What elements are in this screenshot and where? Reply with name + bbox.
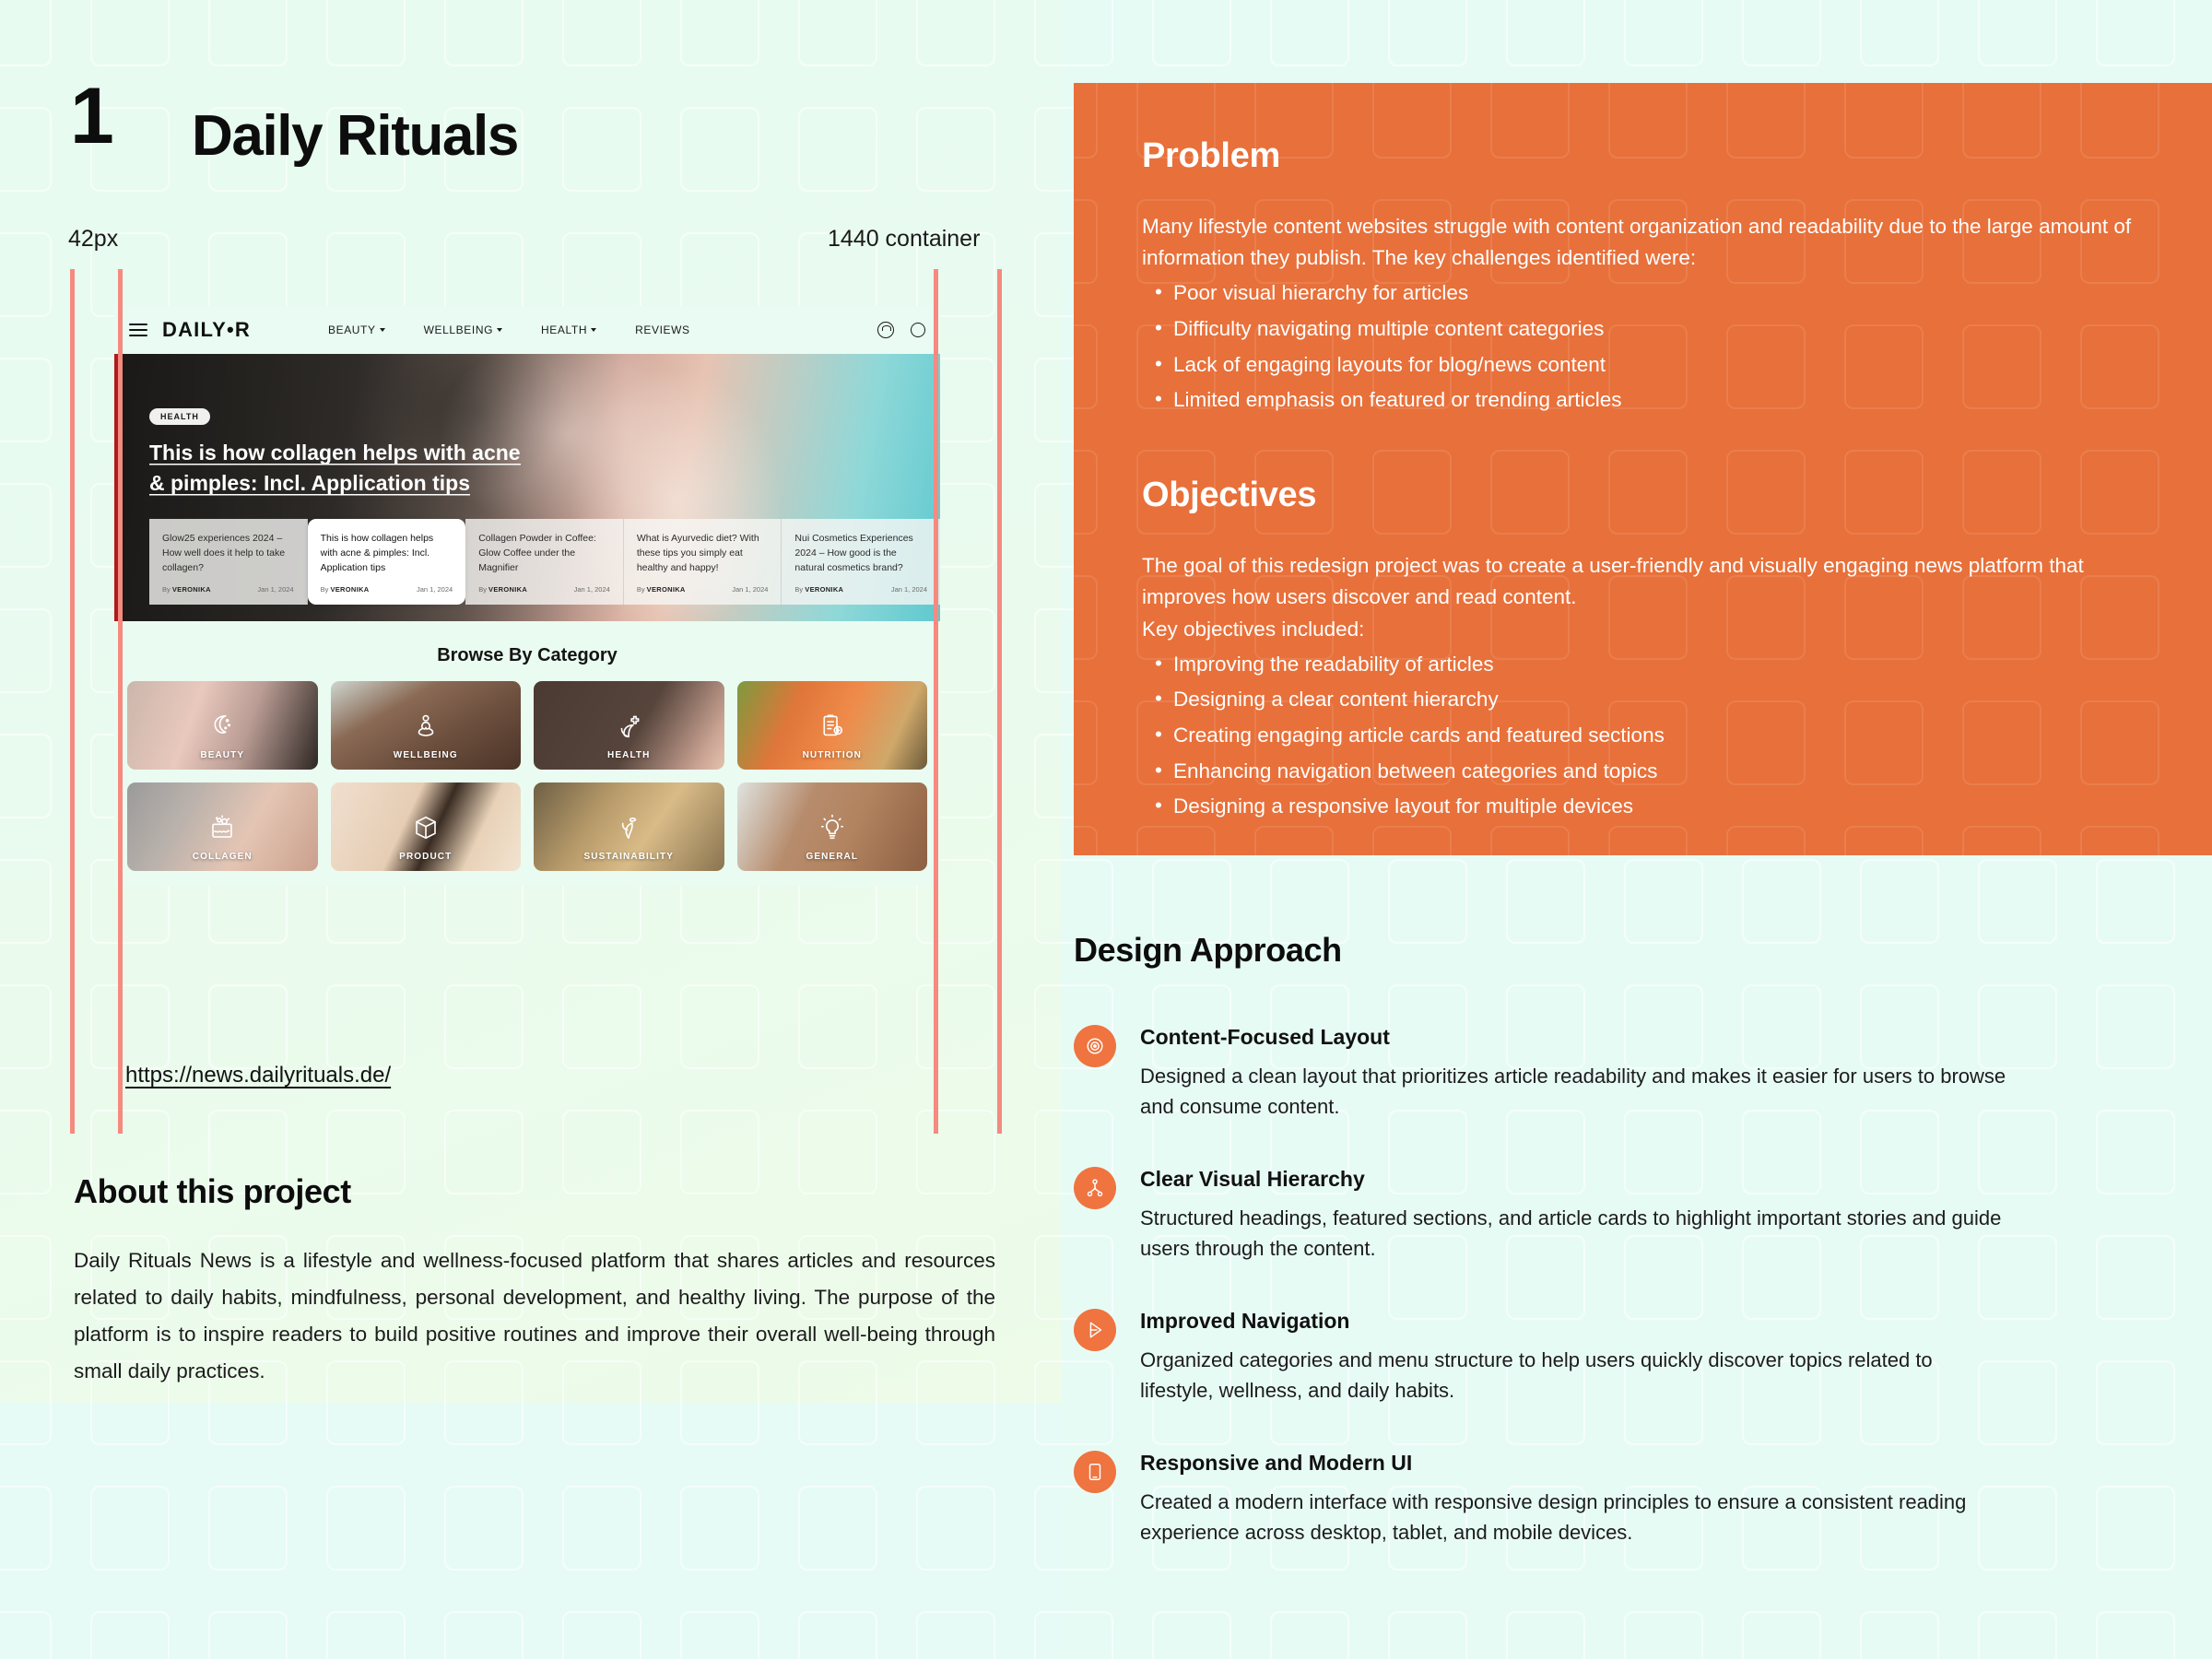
website-mockup: DAILY•R BEAUTY WELLBEING HEALTH REVIEWS …: [114, 306, 940, 886]
category-label: PRODUCT: [399, 852, 452, 862]
article-card-meta: By VERONIKA Jan 1, 2024: [478, 585, 610, 594]
problem-intro: Many lifestyle content websites struggle…: [1142, 211, 2138, 274]
tablet-device-icon: [1074, 1451, 1116, 1493]
node-hierarchy-icon: [1074, 1167, 1116, 1209]
category-card-health[interactable]: HEALTH: [534, 681, 724, 770]
problem-heading: Problem: [1142, 136, 2138, 176]
objective-bullet: Designing a clear content hierarchy: [1142, 682, 2138, 718]
slide-number: 1: [70, 81, 112, 152]
category-grid: BEAUTY WELLBEING HEALTH NUTRITION COLLAG…: [114, 672, 940, 886]
spec-label-gutter: 42px: [68, 226, 118, 253]
sprout-leaf-icon: [615, 814, 642, 846]
guide-line-inner-left: [118, 269, 123, 1134]
category-card-sustainability[interactable]: SUSTAINABILITY: [534, 782, 724, 871]
problem-objectives-panel: Problem Many lifestyle content websites …: [1074, 83, 2212, 855]
guide-line-outer-left: [70, 269, 75, 1134]
article-card-title: Glow25 experiences 2024 – How well does …: [162, 532, 294, 576]
chevron-down-icon: [497, 328, 502, 332]
problem-bullet-list: Poor visual hierarchy for articlesDiffic…: [1142, 276, 2138, 418]
article-card-author: By VERONIKA: [637, 585, 686, 594]
article-card[interactable]: What is Ayurvedic diet? With these tips …: [624, 519, 782, 605]
mockup-nav-links: BEAUTY WELLBEING HEALTH REVIEWS: [328, 324, 690, 336]
skin-layers-icon: [208, 814, 236, 846]
meditation-icon: [412, 712, 440, 745]
objective-bullet: Enhancing navigation between categories …: [1142, 754, 2138, 790]
user-account-icon[interactable]: [877, 322, 894, 338]
article-card-meta: By VERONIKA Jan 1, 2024: [637, 585, 769, 594]
nav-label: BEAUTY: [328, 324, 376, 336]
left-column: 1 Daily Rituals 42px 1440 container DAIL…: [0, 0, 1069, 1659]
article-card-date: Jan 1, 2024: [732, 585, 768, 594]
article-card-meta: By VERONIKA Jan 1, 2024: [162, 585, 294, 594]
design-approach-item-title: Responsive and Modern UI: [1140, 1451, 2006, 1476]
chevron-down-icon: [591, 328, 596, 332]
design-approach-item: Content-Focused Layout Designed a clean …: [1074, 1023, 2180, 1123]
category-label: BEAUTY: [200, 750, 244, 760]
send-cursor-icon: [1074, 1309, 1116, 1351]
nav-label: HEALTH: [541, 324, 587, 336]
design-approach-item-description: Structured headings, featured sections, …: [1140, 1203, 2006, 1265]
article-card-author: By VERONIKA: [478, 585, 527, 594]
design-approach-item: Clear Visual Hierarchy Structured headin…: [1074, 1165, 2180, 1265]
design-approach-item-title: Content-Focused Layout: [1140, 1025, 2006, 1050]
spec-label-container: 1440 container: [828, 226, 980, 253]
article-card-title: Collagen Powder in Coffee: Glow Coffee u…: [478, 532, 610, 576]
category-label: HEALTH: [607, 750, 650, 760]
category-label: NUTRITION: [803, 750, 862, 760]
objective-bullet: Creating engaging article cards and feat…: [1142, 718, 2138, 754]
problem-bullet: Difficulty navigating multiple content c…: [1142, 312, 2138, 347]
category-card-general[interactable]: GENERAL: [737, 782, 928, 871]
objectives-sub-intro: Key objectives included:: [1142, 614, 2138, 645]
article-card[interactable]: This is how collagen helps with acne & p…: [308, 519, 466, 605]
objectives-heading: Objectives: [1142, 476, 2138, 515]
article-card[interactable]: Nui Cosmetics Experiences 2024 – How goo…: [782, 519, 940, 605]
guide-line-outer-right: [997, 269, 1002, 1134]
category-card-collagen[interactable]: COLLAGEN: [127, 782, 318, 871]
article-card-title: What is Ayurvedic diet? With these tips …: [637, 532, 769, 576]
nav-item-wellbeing[interactable]: WELLBEING: [424, 324, 502, 336]
face-beauty-icon: [208, 712, 236, 745]
design-approach-heading: Design Approach: [1074, 931, 1342, 970]
category-card-product[interactable]: PRODUCT: [331, 782, 522, 871]
search-icon[interactable]: [911, 323, 925, 337]
problem-bullet: Poor visual hierarchy for articles: [1142, 276, 2138, 312]
nav-item-beauty[interactable]: BEAUTY: [328, 324, 385, 336]
article-card-author: By VERONIKA: [162, 585, 211, 594]
design-approach-item-description: Designed a clean layout that prioritizes…: [1140, 1061, 2006, 1123]
category-label: COLLAGEN: [193, 852, 253, 862]
article-card[interactable]: Collagen Powder in Coffee: Glow Coffee u…: [465, 519, 624, 605]
project-url-link[interactable]: https://news.dailyrituals.de/: [125, 1063, 391, 1088]
category-card-nutrition[interactable]: NUTRITION: [737, 681, 928, 770]
guide-line-inner-right: [934, 269, 938, 1134]
chevron-down-icon: [380, 328, 385, 332]
nav-item-reviews[interactable]: REVIEWS: [635, 324, 690, 336]
problem-bullet: Lack of engaging layouts for blog/news c…: [1142, 347, 2138, 383]
category-card-beauty[interactable]: BEAUTY: [127, 681, 318, 770]
lightbulb-icon: [818, 814, 846, 846]
design-approach-item-title: Clear Visual Hierarchy: [1140, 1167, 2006, 1192]
page-title: Daily Rituals: [192, 103, 518, 169]
category-label: WELLBEING: [394, 750, 458, 760]
mockup-navbar: DAILY•R BEAUTY WELLBEING HEALTH REVIEWS: [114, 306, 940, 354]
problem-bullet: Limited emphasis on featured or trending…: [1142, 382, 2138, 418]
site-logo[interactable]: DAILY•R: [162, 318, 251, 342]
article-card-date: Jan 1, 2024: [891, 585, 927, 594]
about-body-text: Daily Rituals News is a lifestyle and we…: [74, 1242, 995, 1390]
article-card-date: Jan 1, 2024: [257, 585, 293, 594]
hamburger-icon[interactable]: [129, 324, 147, 336]
box-package-icon: [412, 814, 440, 846]
article-card-title: This is how collagen helps with acne & p…: [321, 532, 453, 576]
design-approach-list: Content-Focused Layout Designed a clean …: [1074, 1023, 2180, 1591]
hero-category-badge[interactable]: HEALTH: [149, 408, 210, 425]
objectives-intro: The goal of this redesign project was to…: [1142, 550, 2138, 613]
category-label: SUSTAINABILITY: [584, 852, 674, 862]
article-card-title: Nui Cosmetics Experiences 2024 – How goo…: [794, 532, 927, 576]
design-approach-item: Improved Navigation Organized categories…: [1074, 1307, 2180, 1406]
browse-section-header: Browse By Category: [114, 621, 940, 672]
design-approach-item-description: Created a modern interface with responsi…: [1140, 1487, 2006, 1548]
article-card-meta: By VERONIKA Jan 1, 2024: [794, 585, 927, 594]
category-card-wellbeing[interactable]: WELLBEING: [331, 681, 522, 770]
objective-bullet: Improving the readability of articles: [1142, 647, 2138, 683]
category-label: GENERAL: [806, 852, 858, 862]
article-cards-strip: Glow25 experiences 2024 – How well does …: [149, 519, 940, 605]
clipboard-nutrition-icon: [818, 712, 846, 745]
article-card-date: Jan 1, 2024: [417, 585, 453, 594]
article-card-author: By VERONIKA: [321, 585, 370, 594]
article-card-author: By VERONIKA: [794, 585, 843, 594]
design-approach-item: Responsive and Modern UI Created a moder…: [1074, 1449, 2180, 1548]
design-approach-item-title: Improved Navigation: [1140, 1309, 2006, 1334]
article-card[interactable]: Glow25 experiences 2024 – How well does …: [149, 519, 308, 605]
nav-label: REVIEWS: [635, 324, 690, 336]
nav-label: WELLBEING: [424, 324, 493, 336]
design-approach-item-description: Organized categories and menu structure …: [1140, 1345, 2006, 1406]
target-bullseye-icon: [1074, 1025, 1116, 1067]
hero-banner[interactable]: HEALTH This is how collagen helps with a…: [114, 354, 940, 621]
leaf-cross-icon: [615, 712, 642, 745]
objective-bullet: Designing a responsive layout for multip…: [1142, 789, 2138, 825]
browse-title: Browse By Category: [114, 645, 940, 666]
hero-content: HEALTH This is how collagen helps with a…: [149, 407, 536, 498]
hero-headline[interactable]: This is how collagen helps with acne & p…: [149, 438, 536, 498]
article-card-date: Jan 1, 2024: [574, 585, 610, 594]
about-heading: About this project: [74, 1172, 351, 1211]
nav-item-health[interactable]: HEALTH: [541, 324, 596, 336]
objectives-bullet-list: Improving the readability of articlesDes…: [1142, 647, 2138, 825]
article-card-meta: By VERONIKA Jan 1, 2024: [321, 585, 453, 594]
mockup-nav-icons: [877, 322, 925, 338]
